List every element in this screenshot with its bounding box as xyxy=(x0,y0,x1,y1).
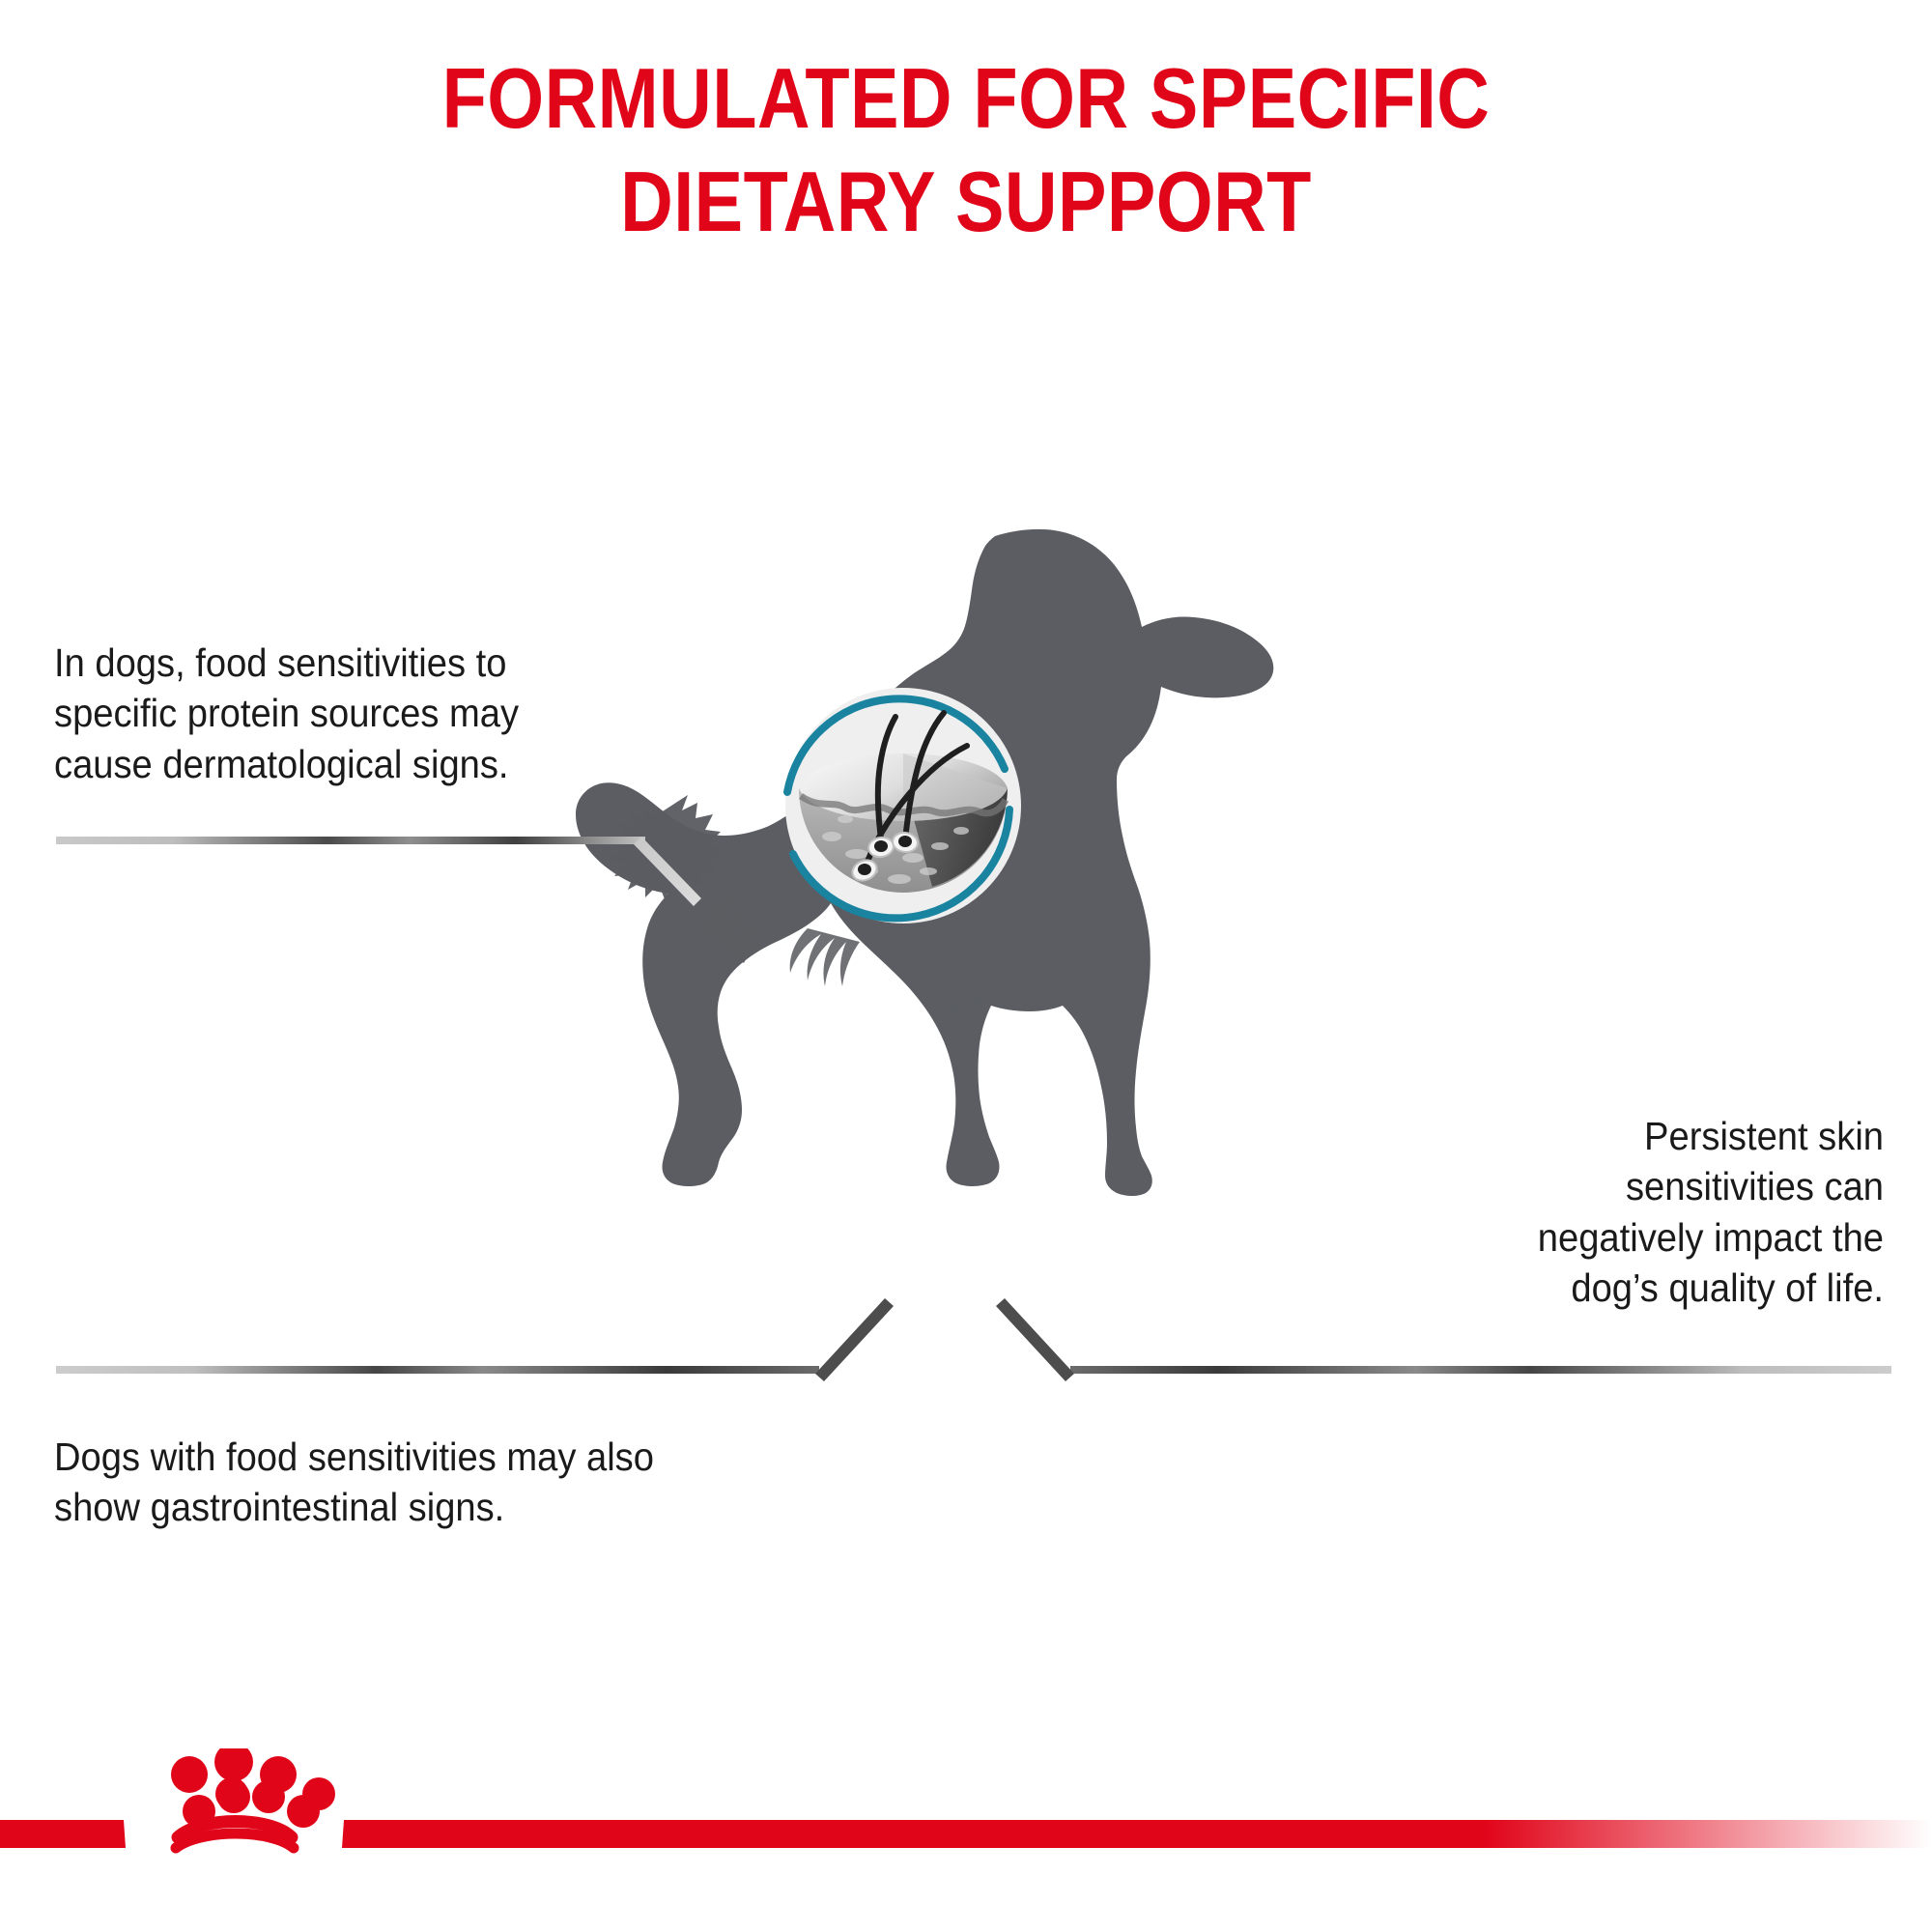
callout-gastrointestinal: Dogs with food sensitivities may also sh… xyxy=(54,1432,737,1533)
skin-cross-section-icon xyxy=(768,665,1038,935)
callout-dermatological-line-3: cause dermatological signs. xyxy=(54,739,611,789)
callout-quality-of-life-line-1: Persistent skin xyxy=(1129,1111,1884,1161)
page-title-line-1: FORMULATED FOR SPECIFIC xyxy=(135,46,1797,150)
footer xyxy=(0,1748,1932,1932)
royal-canin-crown-logo xyxy=(171,1748,335,1848)
page-title-line-2: DIETARY SUPPORT xyxy=(135,150,1797,253)
footer-bar-left xyxy=(0,1820,126,1848)
callout-dermatological-line-2: specific protein sources may xyxy=(54,688,611,738)
page-title: FORMULATED FOR SPECIFIC DIETARY SUPPORT xyxy=(135,46,1797,254)
royal-canin-dietary-support-infographic: { "brand": { "accent_red": "#E1051A", "s… xyxy=(0,0,1932,1932)
callout-gastrointestinal-line-2: show gastrointestinal signs. xyxy=(54,1482,737,1532)
callout-quality-of-life-line-2: sensitivities can xyxy=(1129,1161,1884,1211)
callout-dermatological: In dogs, food sensitivities to specific … xyxy=(54,638,611,789)
callout-dermatological-line-1: In dogs, food sensitivities to xyxy=(54,638,611,688)
callout-quality-of-life-line-3: negatively impact the xyxy=(1129,1212,1884,1263)
footer-bar-right xyxy=(342,1820,1932,1848)
callout-quality-of-life: Persistent skin sensitivities can negati… xyxy=(1129,1111,1884,1314)
callout-gastrointestinal-line-1: Dogs with food sensitivities may also xyxy=(54,1432,737,1482)
callout-quality-of-life-line-4: dog’s quality of life. xyxy=(1129,1263,1884,1313)
